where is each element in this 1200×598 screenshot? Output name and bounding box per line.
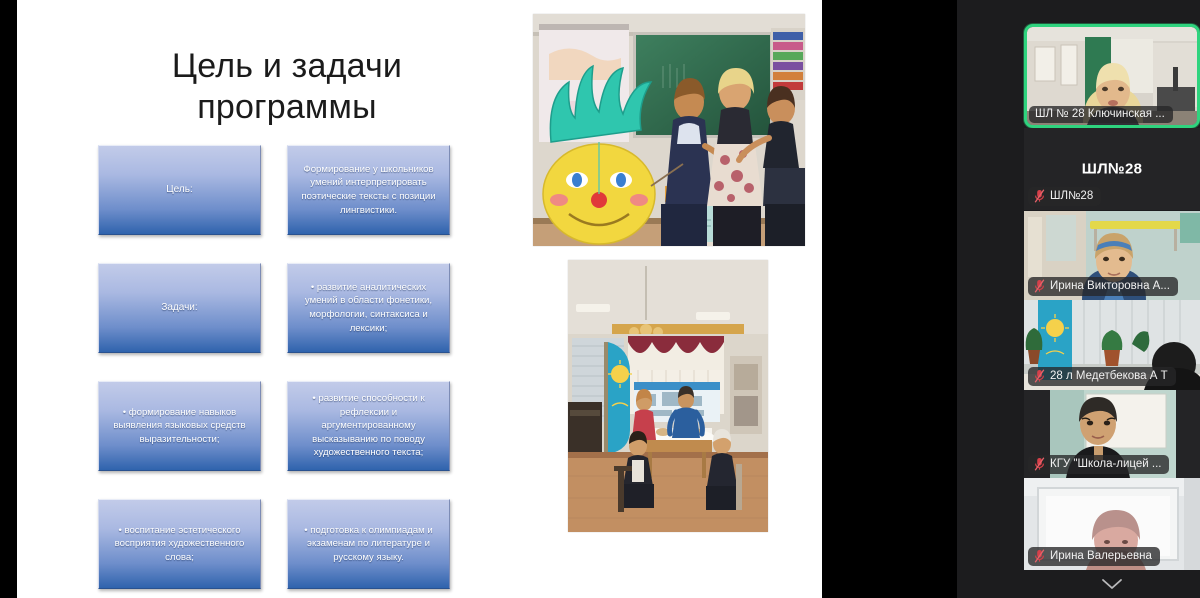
- participant-name-5: КГУ "Школа-лицей ...: [1050, 458, 1161, 470]
- participant-placeholder-name-2: ШЛ№28: [1024, 161, 1200, 178]
- gallery-scroll-down-button[interactable]: [1024, 572, 1200, 596]
- presentation-slide: Цель и задачи программы Цель: Формирован…: [17, 0, 822, 598]
- box-goal-label-text: Цель:: [166, 183, 192, 197]
- participant-name-chip-1: ШЛ № 28 Ключинская ...: [1029, 106, 1173, 123]
- participant-name-chip-2: ШЛ№28: [1028, 187, 1101, 206]
- participant-name-chip-6: Ирина Валерьевна: [1028, 547, 1160, 566]
- box-goal-content: Формирование у школьников умений интерпр…: [287, 145, 450, 235]
- goals-row-4: • воспитание эстетического восприятия ху…: [98, 499, 548, 589]
- participant-tile-4[interactable]: 28 л Медетбекова А Т: [1024, 300, 1200, 390]
- page-title: Цель и задачи программы: [77, 46, 497, 129]
- box-task-1-text: • развитие аналитических умений в област…: [295, 281, 442, 335]
- box-task-2-text: • формирование навыков выявления языковы…: [106, 406, 253, 447]
- participant-tile-3[interactable]: Ирина Викторовна А...: [1024, 211, 1200, 300]
- zoom-meeting-window: Цель и задачи программы Цель: Формирован…: [0, 0, 1200, 598]
- box-task-4: • воспитание эстетического восприятия ху…: [98, 499, 261, 589]
- box-tasks-label-text: Задачи:: [161, 301, 197, 315]
- goals-row-1: Цель: Формирование у школьников умений и…: [98, 145, 548, 235]
- box-task-1: • развитие аналитических умений в област…: [287, 263, 450, 353]
- shared-screen-stage[interactable]: Цель и задачи программы Цель: Формирован…: [0, 0, 957, 598]
- muted-mic-icon: [1034, 549, 1045, 563]
- participant-name-2: ШЛ№28: [1050, 190, 1093, 202]
- box-goal-content-text: Формирование у школьников умений интерпр…: [295, 163, 442, 217]
- muted-mic-icon: [1034, 369, 1045, 383]
- box-task-5-text: • подготовка к олимпиадам и экзаменам по…: [295, 524, 442, 565]
- box-goal-label: Цель:: [98, 145, 261, 235]
- slide-title-line-2: программы: [77, 87, 497, 128]
- box-task-3-text: • развитие способности к рефлексии и арг…: [295, 392, 442, 460]
- participant-name-chip-4: 28 л Медетбекова А Т: [1028, 367, 1176, 386]
- box-tasks-label: Задачи:: [98, 263, 261, 353]
- goals-and-tasks-grid: Цель: Формирование у школьников умений и…: [98, 145, 548, 598]
- box-task-4-text: • воспитание эстетического восприятия ху…: [106, 524, 253, 565]
- box-task-2: • формирование навыков выявления языковы…: [98, 381, 261, 471]
- goals-row-2: Задачи: • развитие аналитических умений …: [98, 263, 548, 353]
- participant-tile-2[interactable]: ШЛ№28 ШЛ№28: [1024, 128, 1200, 210]
- muted-mic-icon: [1034, 279, 1045, 293]
- chevron-down-icon: [1101, 578, 1123, 590]
- goals-row-3: • формирование навыков выявления языковы…: [98, 381, 548, 471]
- slide-title-line-1: Цель и задачи: [77, 46, 497, 87]
- slide-photo-classroom: МАТЕМАТИКА: [533, 14, 805, 246]
- participant-tile-5[interactable]: КГУ "Школа-лицей ...: [1024, 390, 1200, 478]
- participant-gallery[interactable]: ШЛ № 28 Ключинская ... ШЛ№28 ШЛ№28: [957, 0, 1200, 598]
- muted-mic-icon: [1034, 457, 1045, 471]
- participant-name-chip-3: Ирина Викторовна А...: [1028, 277, 1178, 296]
- box-task-3: • развитие способности к рефлексии и арг…: [287, 381, 450, 471]
- box-task-5: • подготовка к олимпиадам и экзаменам по…: [287, 499, 450, 589]
- participant-name-chip-5: КГУ "Школа-лицей ...: [1028, 455, 1169, 474]
- slide-photo-assembly-hall: [568, 260, 768, 532]
- participant-name-6: Ирина Валерьевна: [1050, 550, 1152, 562]
- participant-name-1: ШЛ № 28 Ключинская ...: [1035, 108, 1165, 120]
- participant-name-3: Ирина Викторовна А...: [1050, 280, 1170, 292]
- participant-tile-1[interactable]: ШЛ № 28 Ключинская ...: [1024, 24, 1200, 128]
- muted-mic-icon: [1034, 189, 1045, 203]
- participant-name-4: 28 л Медетбекова А Т: [1050, 370, 1168, 382]
- participant-tile-6[interactable]: Ирина Валерьевна: [1024, 478, 1200, 570]
